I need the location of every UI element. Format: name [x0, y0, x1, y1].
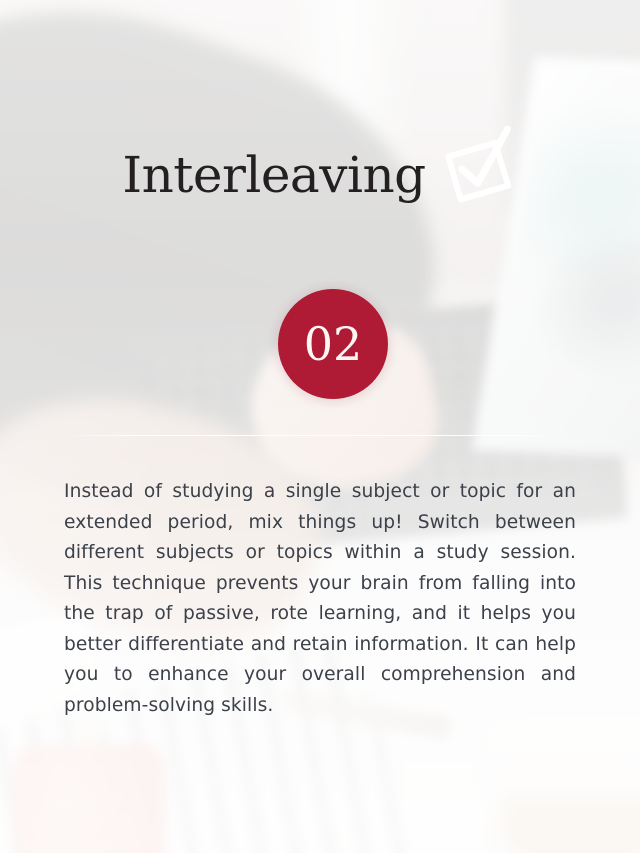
horizontal-rule	[66, 435, 574, 436]
step-number-badge: 02	[278, 289, 388, 399]
title-row: Interleaving	[0, 139, 640, 210]
page-title: Interleaving	[122, 150, 425, 200]
checked-checkbox-icon	[435, 123, 523, 215]
body-paragraph: Instead of studying a single subject or …	[64, 477, 576, 721]
card-content: Interleaving 02 Instead of studying a si…	[0, 0, 640, 853]
step-number: 02	[304, 321, 363, 367]
study-tip-card: Interleaving 02 Instead of studying a si…	[0, 0, 640, 853]
